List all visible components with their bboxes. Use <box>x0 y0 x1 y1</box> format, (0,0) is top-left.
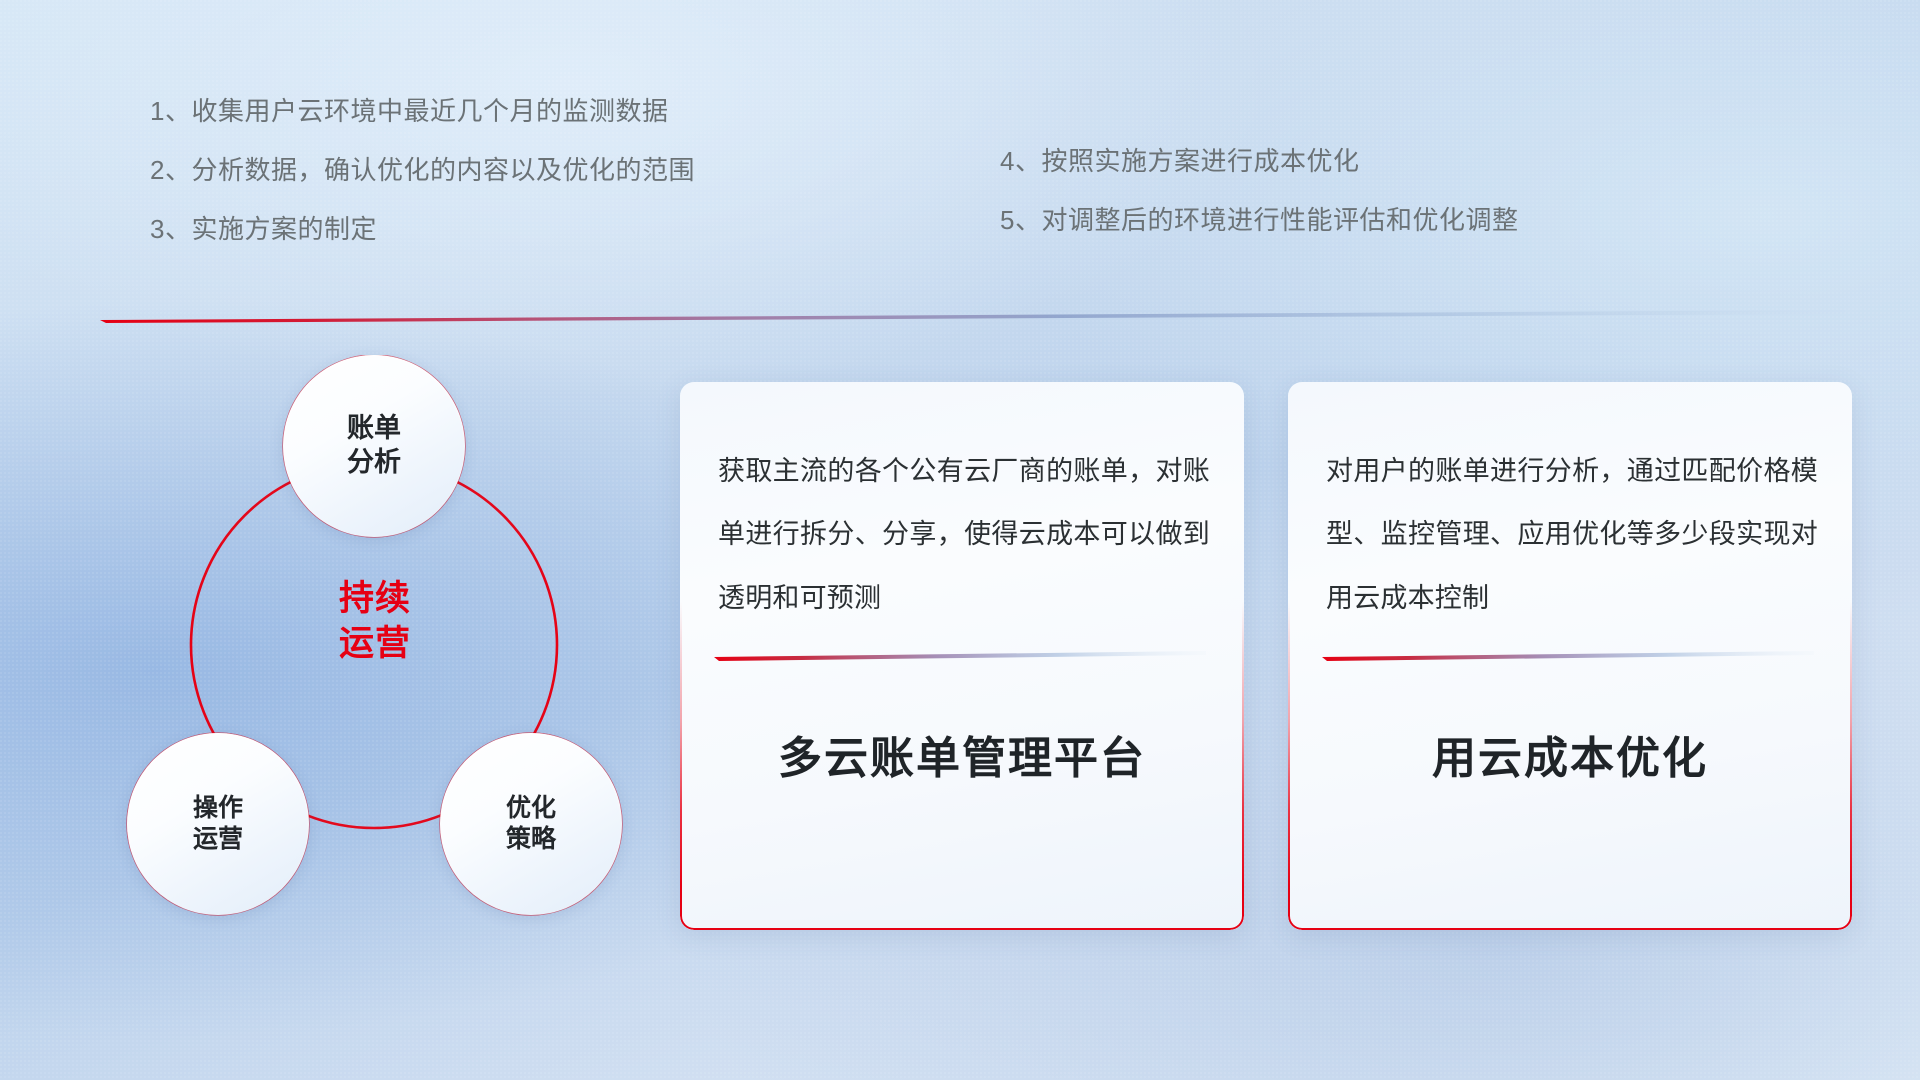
continuous-operation-diagram: 账单 分析 操作 运营 优化 策略 持续 运营 <box>95 355 635 935</box>
bubble-label-line2: 分析 <box>347 446 401 480</box>
bubble-label-line1: 操作 <box>193 793 243 824</box>
bubble-bill-analysis[interactable]: 账单 分析 <box>283 355 465 537</box>
center-label-line1: 持续 <box>270 577 480 622</box>
feature-card-cloud-cost-optimization[interactable]: 对用户的账单进行分析，通过匹配价格模型、监控管理、应用优化等多少段实现对用云成本… <box>1288 382 1852 930</box>
step-item: 1、收集用户云环境中最近几个月的监测数据 <box>150 98 695 124</box>
step-item: 5、对调整后的环境进行性能评估和优化调整 <box>1000 207 1518 233</box>
section-divider <box>100 308 1845 324</box>
card-title: 用云成本优化 <box>1288 722 1852 786</box>
card-accent-rule <box>1322 650 1814 662</box>
card-title: 多云账单管理平台 <box>680 722 1244 786</box>
bubble-label-line1: 账单 <box>347 412 401 446</box>
step-item: 2、分析数据，确认优化的内容以及优化的范围 <box>150 157 695 183</box>
bubble-label-line2: 运营 <box>193 824 243 855</box>
step-item: 4、按照实施方案进行成本优化 <box>1000 148 1518 174</box>
slide-canvas: 1、收集用户云环境中最近几个月的监测数据 2、分析数据，确认优化的内容以及优化的… <box>0 0 1920 1080</box>
bubble-label-line2: 策略 <box>506 824 556 855</box>
center-label-line2: 运营 <box>270 622 480 667</box>
feature-card-multicloud-billing[interactable]: 获取主流的各个公有云厂商的账单，对账单进行拆分、分享，使得云成本可以做到透明和可… <box>680 382 1244 930</box>
card-accent-rule <box>714 650 1206 662</box>
card-body-text: 获取主流的各个公有云厂商的账单，对账单进行拆分、分享，使得云成本可以做到透明和可… <box>718 440 1210 630</box>
card-body-text: 对用户的账单进行分析，通过匹配价格模型、监控管理、应用优化等多少段实现对用云成本… <box>1326 440 1818 630</box>
steps-list-right: 4、按照实施方案进行成本优化 5、对调整后的环境进行性能评估和优化调整 <box>1000 148 1518 266</box>
bubble-optimization-strategy[interactable]: 优化 策略 <box>440 733 622 915</box>
steps-list-left: 1、收集用户云环境中最近几个月的监测数据 2、分析数据，确认优化的内容以及优化的… <box>150 98 695 275</box>
step-item: 3、实施方案的制定 <box>150 216 695 242</box>
bubble-label-line1: 优化 <box>506 793 556 824</box>
bubble-operations[interactable]: 操作 运营 <box>127 733 309 915</box>
diagram-center-label: 持续 运营 <box>270 577 480 667</box>
